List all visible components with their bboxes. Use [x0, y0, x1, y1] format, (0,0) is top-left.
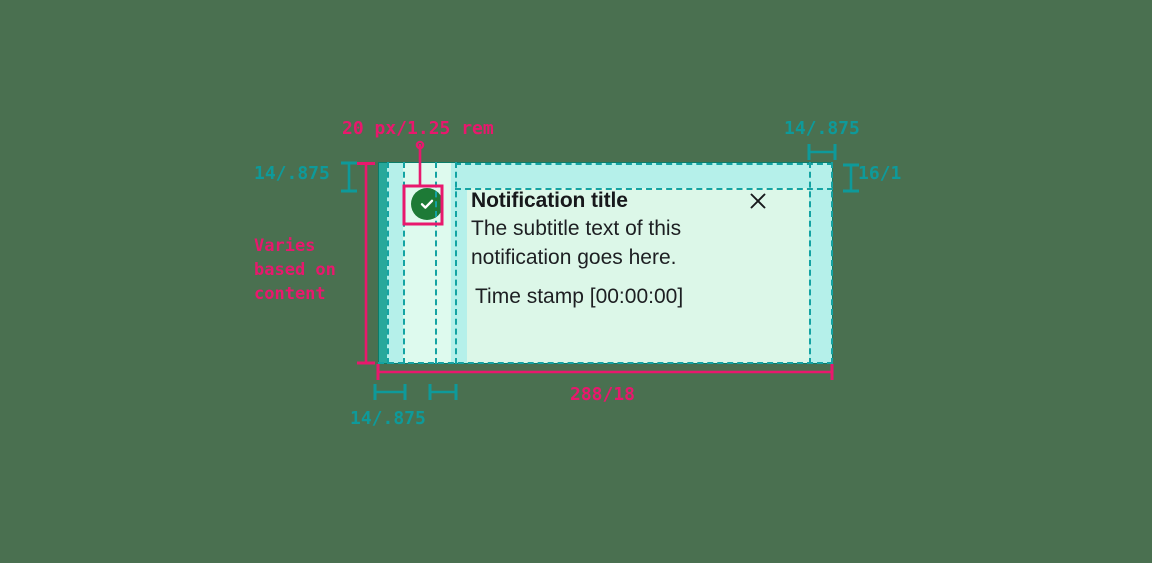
spec-diagram-canvas: Notification title The subtitle text of …: [0, 0, 1152, 563]
guide-line-horizontal: [455, 163, 833, 165]
height-varies-label: Varies based on content: [254, 234, 336, 306]
status-accent-bar: [378, 162, 387, 364]
total-width-label: 288/18: [570, 384, 635, 405]
bottom-left-spacing-label: 14/.875: [350, 408, 426, 429]
icon-size-label: 20 px/1.25 rem: [342, 118, 494, 139]
notification-timestamp: Time stamp [00:00:00]: [475, 284, 683, 310]
bottom-left-spacing-bracket-a: [371, 382, 411, 402]
icon-size-callout: [400, 142, 450, 220]
height-varies-text: Varies based on content: [254, 236, 336, 304]
top-right-spacing-label: 14/.875: [784, 118, 860, 139]
notification-text-block: Notification title The subtitle text of …: [471, 188, 809, 364]
bottom-left-spacing-bracket-b: [426, 382, 462, 402]
total-width-bracket: [372, 362, 838, 382]
top-padding-overlay: [467, 162, 809, 188]
guide-line-vertical: [831, 162, 833, 364]
guide-line-horizontal: [455, 188, 833, 190]
top-left-spacing-bracket: [338, 160, 360, 194]
top-right-spacing-bracket: [806, 142, 838, 162]
top-left-spacing-label: 14/.875: [254, 163, 330, 184]
guide-line-vertical: [387, 162, 389, 364]
notification-subtitle: The subtitle text of this notification g…: [471, 214, 701, 272]
notification-content: Notification title The subtitle text of …: [467, 162, 809, 364]
close-x-icon[interactable]: [747, 190, 769, 212]
icon-gutter-padding-overlay: [451, 162, 467, 364]
right-padding-overlay: [809, 162, 833, 364]
guide-line-vertical: [455, 162, 457, 364]
right-inset-label: 16/1: [858, 163, 901, 184]
guide-line-vertical: [809, 162, 811, 364]
